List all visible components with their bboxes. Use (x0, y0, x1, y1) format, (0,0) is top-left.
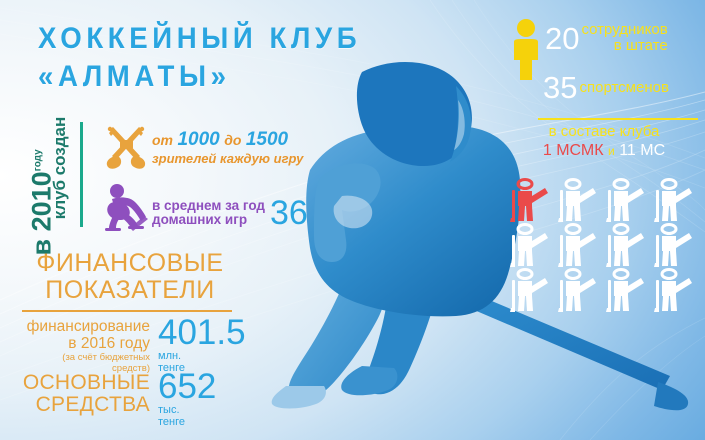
crossed-hockey-sticks-icon (100, 124, 152, 176)
club-roster-text: в составе клуба 1 МСМК и 11 МС (508, 122, 700, 161)
home-games-caption-1: в среднем за год (152, 198, 265, 213)
staff-athletes-label: спортсменов (579, 80, 668, 96)
finance-assets-unit: тыс. тенге (158, 405, 216, 428)
finance-assets-label-2: СРЕДСТВА (22, 394, 150, 416)
hockey-player-figure-icon (510, 268, 552, 312)
home-games-caption: в среднем за год домашних игр (152, 199, 265, 227)
roster-msmk-count: 1 МСМК (543, 142, 604, 159)
roster-conjunction: и (608, 144, 615, 158)
founded-block: клуб создан в 2010году (0, 122, 106, 227)
hockey-player-figure-icon (606, 268, 648, 312)
attendance-prefix: от (152, 132, 173, 148)
staff-row-employees: 20сотрудниковв штате (545, 22, 668, 54)
founded-divider (80, 122, 83, 227)
roster-ms-count: 11 МС (619, 142, 665, 159)
finance-row-funding: финансирование в 2016 году (за счёт бюдж… (22, 318, 246, 374)
attendance-max: 1500 (246, 129, 288, 150)
founded-line-2: в 2010году (27, 152, 58, 256)
attendance-caption: зрителей каждую игру (152, 150, 303, 167)
hockey-player-figure-icon (558, 223, 600, 267)
finance-heading-line-2: ПОКАЗАТЕЛИ (45, 276, 215, 304)
staff-employees-label: сотрудниковв штате (581, 22, 667, 54)
hockey-player-figure-icon (558, 268, 600, 312)
finance-row-assets: ОСНОВНЫЕ СРЕДСТВА 652 тыс. тенге (22, 372, 216, 428)
finance-funding-amount: 401.5 (158, 318, 246, 348)
hockey-player-figure-icon (510, 178, 552, 222)
roster-divider (538, 118, 698, 120)
hockey-player-icon (100, 183, 152, 233)
person-icon (508, 18, 544, 82)
finance-assets-label-1: ОСНОВНЫЕ (22, 372, 150, 394)
finance-divider (22, 310, 232, 312)
attendance-text: от 1000 до 1500 зрителей каждую игру (152, 131, 303, 167)
hockey-player-figure-icon (558, 178, 600, 222)
club-roster-counts: 1 МСМК и 11 МС (543, 142, 665, 159)
hockey-player-figure-icon (606, 223, 648, 267)
home-games-caption-2: домашних игр (152, 212, 247, 227)
hockey-player-figure-icon (654, 223, 696, 267)
home-games-value: 36 (270, 196, 308, 230)
attendance-min: 1000 (177, 129, 219, 150)
roster-figure-grid (510, 178, 700, 308)
finance-assets-amount: 652 (158, 372, 216, 402)
founded-suffix: году (33, 149, 44, 171)
attendance-middle: до (224, 132, 241, 148)
finance-row-assets-value: 652 тыс. тенге (158, 372, 216, 428)
hockey-player-figure-icon (654, 178, 696, 222)
infographic-root: ХОККЕЙНЫЙ КЛУБ «АЛМАТЫ» клуб создан в 20… (0, 0, 705, 440)
finance-heading: ФИНАНСОВЫЕ ПОКАЗАТЕЛИ (30, 250, 230, 304)
hockey-player-figure-icon (510, 223, 552, 267)
finance-funding-label-2: в 2016 году (22, 335, 150, 352)
home-games-text: в среднем за год домашних игр 36 (152, 196, 312, 230)
hockey-player-figure-icon (654, 268, 696, 312)
staff-employees-count: 20 (545, 23, 579, 54)
finance-row-funding-label: финансирование в 2016 году (за счёт бюдж… (22, 318, 150, 374)
founded-year: в 2010 (27, 171, 57, 255)
finance-heading-line-1: ФИНАНСОВЫЕ (36, 249, 223, 277)
club-roster-caption: в составе клуба (549, 123, 660, 140)
hockey-player-figure-icon (606, 178, 648, 222)
finance-row-funding-value: 401.5 млн. тенге (158, 318, 246, 374)
title-line-1: ХОККЕЙНЫЙ КЛУБ (38, 22, 361, 55)
staff-row-athletes: 35спортсменов (543, 72, 669, 103)
finance-row-assets-label: ОСНОВНЫЕ СРЕДСТВА (22, 372, 150, 416)
finance-funding-label-1: финансирование (22, 318, 150, 335)
staff-athletes-count: 35 (543, 72, 577, 103)
